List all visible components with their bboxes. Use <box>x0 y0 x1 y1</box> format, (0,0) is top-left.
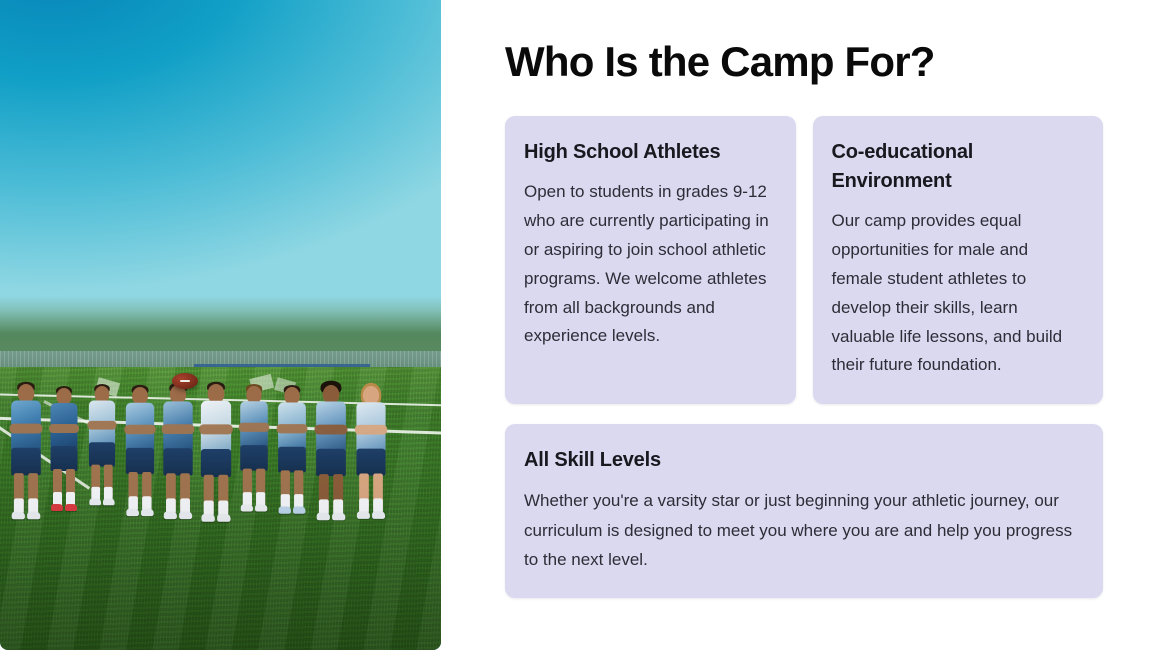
shoe <box>51 504 63 511</box>
shorts <box>279 447 307 473</box>
card-title: All Skill Levels <box>524 446 1079 475</box>
shorts <box>316 449 346 477</box>
arms <box>49 424 79 433</box>
shorts <box>126 448 154 474</box>
shoe <box>141 509 154 516</box>
card-co-educational-environment[interactable]: Co-educational Environment Our camp prov… <box>813 116 1104 404</box>
page-root: Who Is the Camp For? High School Athlete… <box>0 0 1150 655</box>
shoe <box>103 499 115 506</box>
camp-photo <box>0 0 441 650</box>
shoe <box>65 504 77 511</box>
shoe <box>11 512 24 520</box>
shoe <box>255 504 267 511</box>
shoe <box>279 506 291 513</box>
card-body: Whether you're a varsity star or just be… <box>524 486 1079 574</box>
shoe <box>293 506 305 513</box>
shoe <box>179 511 192 519</box>
shoe <box>89 499 101 506</box>
arms <box>199 424 233 434</box>
shoe <box>357 511 370 519</box>
shoe <box>126 509 139 516</box>
shoe <box>316 513 329 521</box>
arms <box>9 424 42 434</box>
arms <box>355 425 387 435</box>
shoe <box>372 511 385 519</box>
card-all-skill-levels[interactable]: All Skill Levels Whether you're a varsit… <box>505 424 1103 598</box>
shoe <box>241 504 253 511</box>
shorts <box>11 448 41 476</box>
content-column: Who Is the Camp For? High School Athlete… <box>505 0 1103 655</box>
cards-row: High School Athletes Open to students in… <box>505 116 1103 404</box>
arms <box>162 424 195 434</box>
photo-illustration <box>0 0 441 650</box>
shorts <box>201 449 231 477</box>
shoe <box>217 514 230 522</box>
shoe <box>164 511 177 519</box>
card-title: Co-educational Environment <box>832 138 1080 196</box>
shorts <box>89 442 115 466</box>
shorts <box>50 446 77 471</box>
card-high-school-athletes[interactable]: High School Athletes Open to students in… <box>505 116 796 404</box>
arms <box>277 424 308 433</box>
card-body: Open to students in grades 9-12 who are … <box>524 178 772 351</box>
shoe <box>202 514 215 522</box>
athlete-group <box>9 189 432 391</box>
card-body: Our camp provides equal opportunities fo… <box>832 207 1080 380</box>
shoe <box>332 513 345 521</box>
shoe <box>27 512 40 520</box>
card-title: High School Athletes <box>524 138 772 167</box>
shorts <box>356 449 385 476</box>
arms <box>124 425 156 434</box>
arms <box>239 423 270 432</box>
arms <box>314 425 347 435</box>
football-icon <box>172 373 198 389</box>
shorts <box>241 445 269 471</box>
page-title: Who Is the Camp For? <box>505 38 1103 85</box>
shorts <box>163 448 192 475</box>
arms <box>87 421 116 430</box>
